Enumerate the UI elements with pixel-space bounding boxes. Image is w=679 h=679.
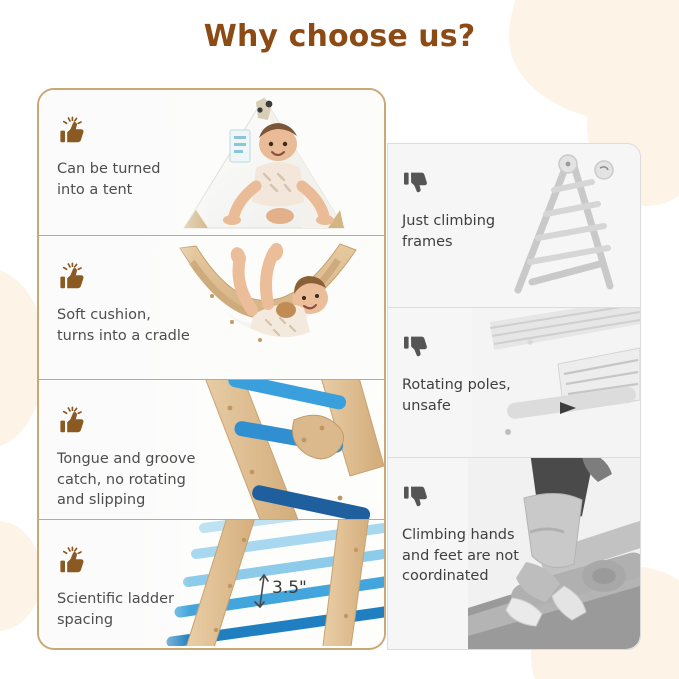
con-photo-climbing-frame bbox=[488, 144, 640, 307]
con-label-text: Rotating poles, unsafe bbox=[402, 377, 511, 413]
pro-label-tent: Can be turned into a tent bbox=[57, 116, 160, 200]
pro-label-text: Tongue and groove catch, no rotating and… bbox=[57, 451, 195, 508]
thumbs-up-icon bbox=[57, 546, 174, 582]
thumbs-down-icon bbox=[402, 334, 511, 368]
thumbs-up-icon bbox=[57, 116, 160, 152]
con-label-climbing-frames: Just climbing frames bbox=[402, 170, 495, 252]
pro-label-text: Scientific ladder spacing bbox=[57, 591, 174, 627]
plain-white-climbing-frame-illustration bbox=[488, 144, 640, 308]
con-label-text: Climbing hands and feet are not coordina… bbox=[402, 527, 519, 584]
pro-row-tent: Can be turned into a tent bbox=[39, 90, 384, 236]
con-row-uncoordinated: Climbing hands and feet are not coordina… bbox=[388, 458, 640, 649]
infographic-canvas: Why choose us? bbox=[0, 0, 679, 679]
pros-panel: Can be turned into a tent bbox=[37, 88, 386, 650]
pro-label-ladder: Scientific ladder spacing bbox=[57, 546, 174, 630]
pro-photo-tent bbox=[152, 90, 384, 235]
thumbs-up-icon bbox=[57, 406, 195, 442]
pro-label-text: Can be turned into a tent bbox=[57, 161, 160, 197]
thumbs-up-icon bbox=[57, 262, 190, 298]
ladder-spacing-measure-label: 3.5" bbox=[272, 578, 307, 598]
thumbs-down-icon bbox=[402, 484, 519, 518]
thumbs-down-icon bbox=[402, 170, 495, 204]
page-title: Why choose us? bbox=[0, 19, 679, 54]
pro-row-joint: Tongue and groove catch, no rotating and… bbox=[39, 380, 384, 520]
con-label-text: Just climbing frames bbox=[402, 213, 495, 249]
pro-row-ladder: 3.5" Scient bbox=[39, 520, 384, 646]
pro-label-cradle: Soft cushion, turns into a cradle bbox=[57, 262, 190, 346]
con-row-climbing-frames: Just climbing frames bbox=[388, 144, 640, 308]
con-row-rotating-poles: Rotating poles, unsafe bbox=[388, 308, 640, 458]
cons-panel: Just climbing frames bbox=[387, 143, 641, 650]
decorative-blob-bottom-left bbox=[0, 521, 42, 631]
pro-row-cradle: Soft cushion, turns into a cradle bbox=[39, 236, 384, 380]
pro-label-text: Soft cushion, turns into a cradle bbox=[57, 307, 190, 343]
con-label-uncoordinated: Climbing hands and feet are not coordina… bbox=[402, 484, 519, 587]
child-inside-white-teepee-tent-illustration bbox=[152, 90, 384, 236]
con-label-rotating-poles: Rotating poles, unsafe bbox=[402, 334, 511, 416]
pro-label-joint: Tongue and groove catch, no rotating and… bbox=[57, 406, 195, 511]
